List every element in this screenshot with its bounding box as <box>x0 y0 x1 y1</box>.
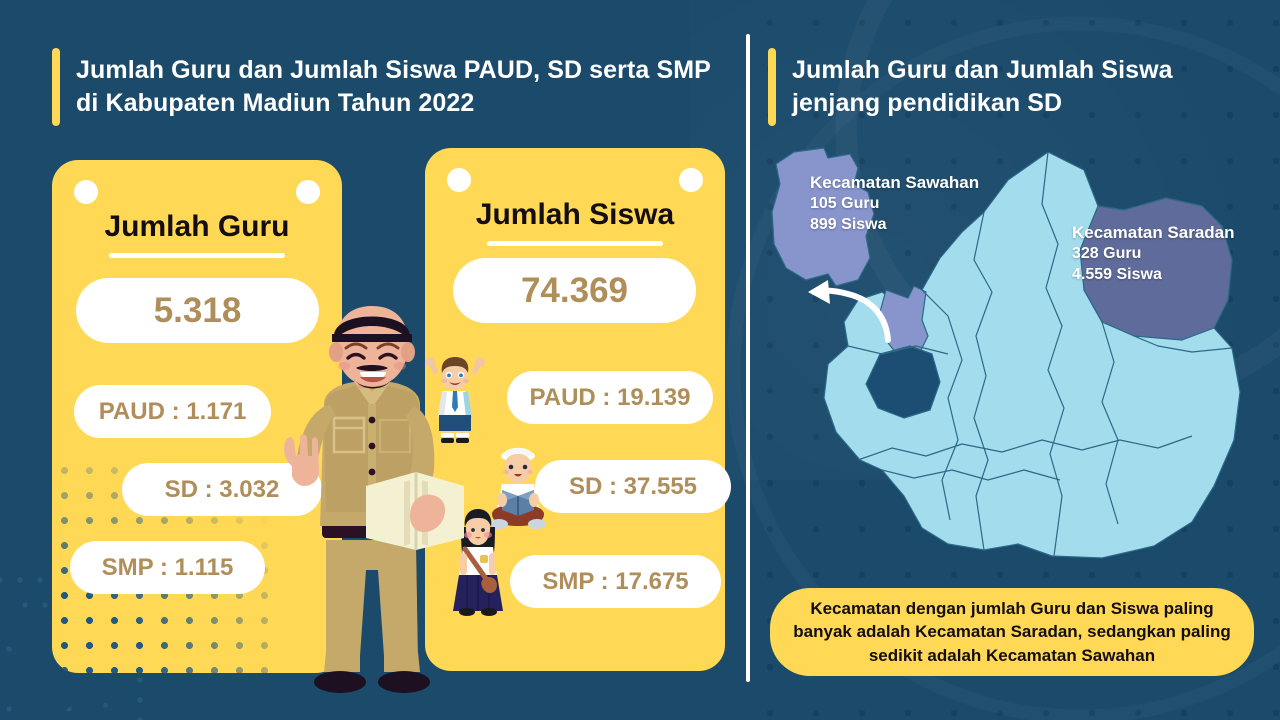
punch-hole-left-icon <box>74 180 98 204</box>
punch-hole-right-icon <box>296 180 320 204</box>
siswa-smp-value: SMP : 17.675 <box>510 555 721 608</box>
card-title-guru: Jumlah Guru <box>52 210 342 244</box>
siswa-total-value: 74.369 <box>453 258 696 323</box>
title-accent-bar <box>52 48 60 126</box>
map-label-sawahan-siswa: 899 Siswa <box>810 215 979 236</box>
siswa-sd-value: SD : 37.555 <box>535 460 731 513</box>
card-title-underline <box>487 241 663 246</box>
map-label-saradan-name: Kecamatan Saradan <box>1072 222 1235 244</box>
punch-hole-right-icon <box>679 168 703 192</box>
summary-callout-text: Kecamatan dengan jumlah Guru dan Siswa p… <box>792 597 1232 667</box>
card-title-siswa: Jumlah Siswa <box>425 198 725 232</box>
map-label-sawahan-name: Kecamatan Sawahan <box>810 172 979 194</box>
card-title-underline <box>109 253 285 258</box>
left-section-title: Jumlah Guru dan Jumlah Siswa PAUD, SD se… <box>52 48 712 126</box>
infographic-canvas: Jumlah Guru dan Jumlah Siswa PAUD, SD se… <box>0 0 1280 720</box>
punch-hole-left-icon <box>447 168 471 192</box>
guru-smp-value: SMP : 1.115 <box>70 541 265 594</box>
map-label-saradan-guru: 328 Guru <box>1072 244 1235 265</box>
siswa-paud-value: PAUD : 19.139 <box>507 371 713 424</box>
teacher-illustration <box>268 300 468 712</box>
section-divider <box>746 34 750 682</box>
map-label-saradan: Kecamatan Saradan 328 Guru 4.559 Siswa <box>1072 222 1235 286</box>
left-title-text: Jumlah Guru dan Jumlah Siswa PAUD, SD se… <box>76 54 712 120</box>
guru-paud-value: PAUD : 1.171 <box>74 385 271 438</box>
right-title-text: Jumlah Guru dan Jumlah Siswa jenjang pen… <box>792 54 1238 120</box>
title-accent-bar <box>768 48 776 126</box>
right-section-title: Jumlah Guru dan Jumlah Siswa jenjang pen… <box>768 48 1238 126</box>
map-label-sawahan: Kecamatan Sawahan 105 Guru 899 Siswa <box>810 172 979 236</box>
map-label-sawahan-guru: 105 Guru <box>810 194 979 215</box>
summary-callout: Kecamatan dengan jumlah Guru dan Siswa p… <box>770 588 1254 676</box>
map-label-saradan-siswa: 4.559 Siswa <box>1072 265 1235 286</box>
